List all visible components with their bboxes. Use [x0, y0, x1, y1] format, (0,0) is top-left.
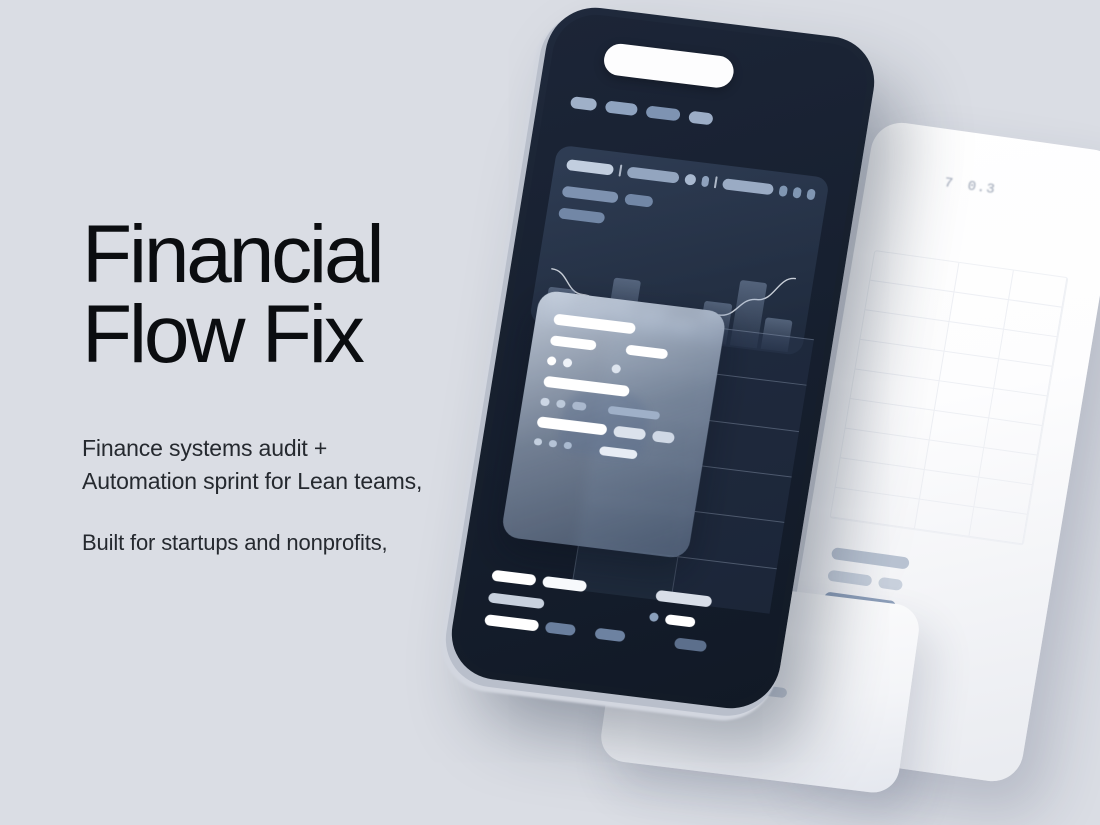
placeholder-bar	[484, 614, 539, 631]
placeholder-bar	[878, 577, 904, 591]
spacer	[578, 360, 605, 372]
placeholder-bar	[491, 570, 536, 586]
placeholder-bar	[701, 175, 710, 187]
nav-pill-row[interactable]	[570, 96, 714, 125]
summary-row-list	[531, 313, 707, 476]
search-input[interactable]	[602, 42, 736, 89]
placeholder-bar	[652, 430, 676, 444]
placeholder-bar	[625, 344, 668, 359]
copy-block: Financial Flow Fix Finance systems audit…	[82, 215, 512, 559]
placeholder-bar	[827, 570, 872, 587]
placeholder-bar	[831, 547, 910, 570]
toolbar-separator	[618, 164, 622, 176]
placeholder-bar	[488, 592, 545, 609]
placeholder-bar	[540, 397, 550, 406]
nav-pill-3[interactable]	[688, 111, 714, 126]
spacer	[592, 404, 601, 413]
dot-indicator	[546, 356, 556, 366]
spacer	[631, 632, 669, 647]
device-mockup-scene: 7 0.3	[470, 0, 1100, 825]
placeholder-bar	[599, 446, 638, 460]
dot-indicator	[611, 364, 621, 374]
placeholder-bar	[556, 399, 566, 408]
spacer	[578, 443, 593, 454]
placeholder-bar	[562, 186, 619, 204]
placeholder-bar	[543, 376, 630, 397]
dot-indicator	[562, 358, 572, 368]
placeholder-bar	[664, 614, 695, 628]
spacer	[659, 198, 734, 218]
report-glyphs: 7 0.3	[943, 175, 997, 198]
dot-indicator	[649, 612, 659, 622]
report-grid-cell	[915, 500, 974, 537]
report-grid-cell	[969, 507, 1028, 544]
placeholder-bar	[594, 628, 626, 643]
placeholder-bar	[545, 622, 577, 637]
spacer	[602, 342, 619, 354]
spacer	[550, 600, 643, 621]
placeholder-bar	[536, 416, 607, 435]
placeholder-bar	[739, 208, 761, 221]
glyph-0: 7	[943, 175, 955, 192]
placeholder-bar	[607, 406, 660, 420]
placeholder-bar	[572, 401, 587, 411]
placeholder-bar	[533, 438, 542, 446]
placeholder-bar	[806, 188, 816, 200]
glyph-1: 0.3	[966, 178, 997, 198]
placeholder-bar	[626, 166, 680, 183]
placeholder-bar	[684, 173, 697, 185]
placeholder-bar	[722, 178, 774, 195]
subtitle-primary: Finance systems audit + Automation sprin…	[82, 432, 432, 499]
nav-pill-0[interactable]	[570, 96, 598, 111]
page-title: Financial Flow Fix	[82, 215, 512, 374]
subtitle-secondary: Built for startups and nonprofits,	[82, 527, 482, 559]
placeholder-bar	[778, 185, 788, 197]
nav-pill-2[interactable]	[645, 105, 681, 121]
placeholder-bar	[613, 426, 647, 441]
placeholder-bar	[550, 335, 597, 350]
placeholder-bar	[548, 440, 557, 448]
placeholder-bar	[558, 207, 605, 223]
poster-canvas: Financial Flow Fix Finance systems audit…	[0, 0, 1100, 825]
placeholder-bar	[566, 159, 614, 176]
overlay-summary-card[interactable]	[500, 290, 727, 560]
report-grid-table	[829, 250, 1068, 546]
toolbar-separator	[714, 176, 718, 188]
placeholder-bar	[792, 186, 802, 198]
placeholder-bar	[563, 442, 572, 450]
placeholder-bar	[553, 313, 636, 334]
spacer	[581, 626, 589, 638]
nav-pill-1[interactable]	[605, 100, 639, 116]
placeholder-bar	[624, 193, 654, 207]
placeholder-bar	[674, 637, 708, 652]
